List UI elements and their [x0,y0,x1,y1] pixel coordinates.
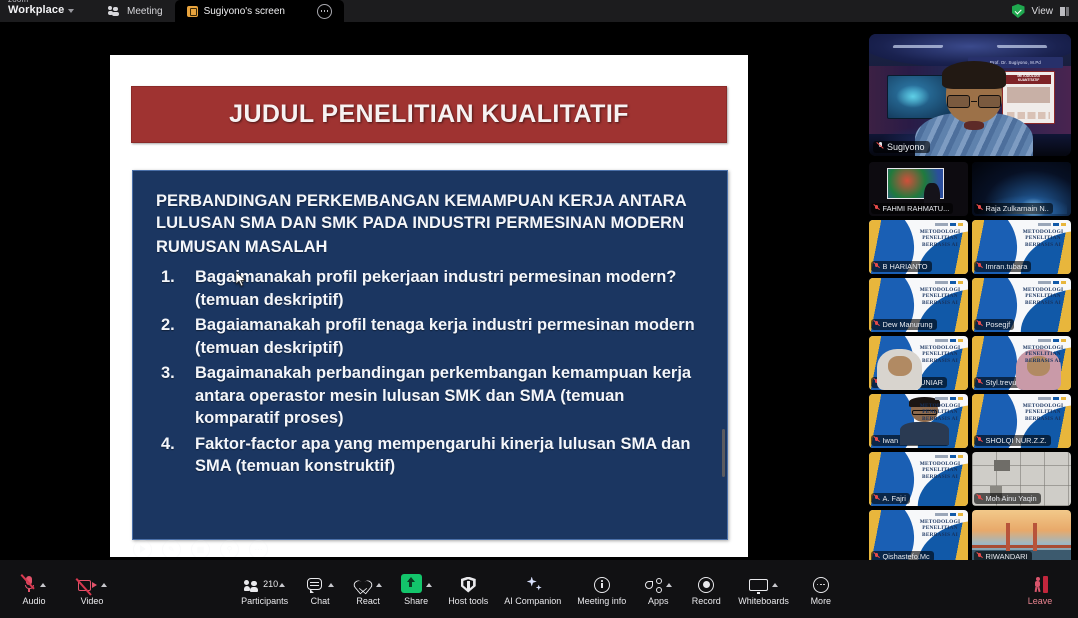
mic-muted-icon [977,379,983,387]
participant-name: Moh Ainu Yaqin [986,493,1037,504]
chevron-down-icon[interactable] [68,9,74,13]
participant-name: B HARIANTO [883,261,928,272]
layout-icon[interactable] [1060,7,1070,16]
whiteboards-button[interactable]: Whiteboards [730,573,797,606]
record-button[interactable]: Record [682,573,730,606]
presentation-controls[interactable]: ✎ ▦ ⚲ ⋯ [133,536,413,557]
leave-button[interactable]: Leave [1016,573,1064,606]
slide-question-list: 1. Bagaimanakah profil pekerjaan industr… [156,266,707,478]
card-text: METODOLOGIPENELITIANBERBASIS AI [918,461,962,480]
participants-label: Participants [241,596,288,606]
participant-row: METODOLOGIPENELITIANBERBASIS AI SRI ARTI… [869,336,1071,390]
card-header-bars [929,222,963,226]
slide-title-text: JUDUL PENELITIAN KUALITATIF [229,100,629,129]
participant-row: METODOLOGIPENELITIANBERBASIS AI Qishaste… [869,510,1071,564]
workplace-label: Workplace [8,4,64,17]
mic-muted-icon [874,495,880,503]
card-text: METODOLOGIPENELITIANBERBASIS AI [918,287,962,306]
tab-shared-screen-label: Sugiyono's screen [204,6,285,17]
slide-heading: PERBANDINGAN PERKEMBANGAN KEMAMPUAN KERJ… [156,190,707,234]
card-text: METODOLOGIPENELITIANBERBASIS AI [1021,287,1065,306]
chat-button[interactable]: Chat [296,573,344,606]
participant-tile[interactable]: METODOLOGIPENELITIANBERBASIS AI Imran.tu… [972,220,1071,274]
list-item: 3. Bagaimanakah perbandingan perkembanga… [156,362,707,430]
apps-label: Apps [648,596,669,606]
card-text: METODOLOGIPENELITIANBERBASIS AI [918,345,962,364]
list-item-number: 4. [161,433,175,456]
list-item-text: Bagaimanakah perbandingan perkembangan k… [195,364,691,427]
speaker-name-badge: Sugiyono [873,141,930,154]
participant-tile[interactable]: FAHMI RAHMATU... [869,162,968,216]
slide-title-banner: JUDUL PENELITIAN KUALITATIF [131,86,727,143]
participants-button[interactable]: 210 Participants [233,573,296,606]
participant-tile[interactable]: RIWANDARI [972,510,1071,564]
participant-row: METODOLOGIPENELITIANBERBASIS AI A. Fajri… [869,452,1071,506]
participant-row: METODOLOGIPENELITIANBERBASIS AI Dew Manu… [869,278,1071,332]
participant-name: SHOLQI NUR.Z.Z. [986,435,1047,446]
card-header-bars [1032,396,1066,400]
slides-icon[interactable]: ▦ [191,540,210,558]
list-item-number: 3. [161,362,175,385]
chat-bubble-icon [307,578,324,593]
meeting-info-label: Meeting info [577,596,626,606]
apps-button[interactable]: Apps [634,573,682,606]
participant-name-badge: B HARIANTO [871,261,932,272]
participant-name-badge: Raja Zulkarnain N.. [974,203,1053,214]
participant-grid: FAHMI RAHMATU... Raja Zulkarnain N.. [869,162,1071,568]
chevron-up-icon[interactable] [426,583,432,587]
list-item-number: 2. [161,314,175,337]
react-button[interactable]: React [344,573,392,606]
mic-muted-icon [977,321,983,329]
mic-muted-icon [874,321,880,329]
people-icon: 210 [244,580,261,593]
participant-tile[interactable]: METODOLOGIPENELITIANBERBASIS AI Qishaste… [869,510,968,564]
participant-figure [877,349,923,390]
chevron-up-icon[interactable] [666,583,672,587]
window-titlebar: zoom Workplace Meeting Sugiyono's screen [0,0,1078,22]
whiteboards-label: Whiteboards [738,596,789,606]
active-speaker-tile[interactable]: Prof. Dr. Sugiyono, M.Pd METODOLOGI KUAN… [869,34,1071,156]
card-text: METODOLOGIPENELITIANBERBASIS AI [918,519,962,538]
zoom-workplace-brand[interactable]: zoom Workplace [0,0,92,22]
participant-tile[interactable]: METODOLOGIPENELITIANBERBASIS AI Posegjf [972,278,1071,332]
participant-tile[interactable]: METODOLOGIPENELITIANBERBASIS AI Dew Manu… [869,278,968,332]
mic-muted-icon [877,142,884,151]
record-label: Record [692,596,721,606]
screen-share-icon [187,6,198,17]
card-header-bars [1032,338,1066,342]
play-icon[interactable] [133,540,152,558]
people-icon [108,6,121,16]
host-tools-label: Host tools [448,596,488,606]
sparkle-icon [524,576,542,593]
participant-tile[interactable]: METODOLOGIPENELITIANBERBASIS AI Styl.tre… [972,336,1071,390]
more-button[interactable]: More [797,573,845,606]
mic-muted-icon [874,205,880,213]
card-text: METODOLOGIPENELITIANBERBASIS AI [1021,345,1065,364]
participant-name-badge: A. Fajri [871,493,910,504]
mic-muted-icon [874,263,880,271]
participant-name: FAHMI RAHMATU... [883,203,950,214]
shield-icon [461,577,476,593]
card-header-bars [929,280,963,284]
participant-filmstrip[interactable]: Prof. Dr. Sugiyono, M.Pd METODOLOGI KUAN… [862,22,1078,560]
participant-tile[interactable]: Moh Ainu Yaqin [972,452,1071,506]
participant-name: Dew Manurung [883,319,933,330]
record-icon [698,577,714,593]
info-icon [594,577,610,593]
share-label: Share [404,596,428,606]
pen-icon[interactable]: ✎ [162,540,181,558]
speaker-name: Sugiyono [887,142,925,152]
participant-row: FAHMI RAHMATU... Raja Zulkarnain N.. [869,162,1071,216]
zoom-meeting-window: zoom Workplace Meeting Sugiyono's screen [0,0,1078,618]
participant-name-badge: Posegjf [974,319,1014,330]
participant-name-badge: Moh Ainu Yaqin [974,493,1041,504]
host-tools-button[interactable]: Host tools [440,573,496,606]
participant-name: Posegjf [986,319,1011,330]
share-button[interactable]: Share [392,573,440,606]
participant-name-badge: Dew Manurung [871,319,937,330]
leave-meeting-icon [1033,576,1048,593]
card-header-bars [929,338,963,342]
participants-count: 210 [263,579,278,589]
apps-icon [645,578,662,593]
card-header-bars [929,396,963,400]
card-text: METODOLOGIPENELITIANBERBASIS AI [918,229,962,248]
meeting-toolbar: Audio Video 210 [0,560,1078,618]
zoom-icon[interactable]: ⚲ [220,540,239,558]
ellipsis-circle-icon [813,577,829,593]
participant-tile[interactable]: METODOLOGIPENELITIANBERBASIS AI SRI ARTI… [869,336,968,390]
speaker-figure [924,58,1025,156]
heart-icon [355,579,372,593]
more-label: More [811,596,832,606]
ai-companion-label: AI Companion [504,596,561,606]
list-item: 2. Bagaiamanakah profil tenaga kerja ind… [156,314,707,359]
card-header-bars [1032,280,1066,284]
tab-meeting[interactable]: Meeting [96,0,175,22]
card-text: METODOLOGIPENELITIANBERBASIS AI [1021,403,1065,422]
participant-name-badge: FAHMI RAHMATU... [871,203,953,214]
more-icon[interactable]: ⋯ [249,540,268,558]
meeting-info-button[interactable]: Meeting info [569,573,634,606]
participant-row: METODOLOGIPENELITIANBERBASIS AI B HARIAN… [869,220,1071,274]
participant-name-badge: SHOLQI NUR.Z.Z. [974,435,1051,446]
whiteboard-icon [749,579,768,593]
participant-tile[interactable]: METODOLOGIPENELITIANBERBASIS AI A. Fajri [869,452,968,506]
card-header-bars [1032,222,1066,226]
tab-shared-screen[interactable]: Sugiyono's screen [175,0,344,22]
slide-scrollbar[interactable] [722,429,725,477]
card-text: METODOLOGIPENELITIANBERBASIS AI [1021,229,1065,248]
list-item-number: 1. [161,266,175,289]
presentation-slide: JUDUL PENELITIAN KUALITATIF PERBANDINGAN… [110,55,748,557]
ellipsis-icon[interactable] [317,4,332,19]
leave-label: Leave [1028,596,1053,606]
chevron-up-icon[interactable] [328,583,334,587]
mic-muted-icon [874,437,880,445]
share-screen-icon [401,574,422,593]
participant-name: A. Fajri [883,493,906,504]
participant-name: Imran.tubara [986,261,1028,272]
mic-muted-icon [977,437,983,445]
participant-tile[interactable]: METODOLOGIPENELITIANBERBASIS AI B HARIAN… [869,220,968,274]
participant-name: Raja Zulkarnain N.. [986,203,1049,214]
participant-tile[interactable]: METODOLOGIPENELITIANBERBASIS AI SHOLQI N… [972,394,1071,448]
mic-muted-icon [977,205,983,213]
shared-screen-stage: JUDUL PENELITIAN KUALITATIF PERBANDINGAN… [0,22,860,560]
list-item: 4. Faktor-factor apa yang mempengaruhi k… [156,433,707,478]
tab-meeting-label: Meeting [127,6,163,17]
mouse-cursor [236,272,246,287]
card-header-bars [929,512,963,516]
participant-name-badge: Imran.tubara [974,261,1031,272]
mic-muted-icon [977,495,983,503]
chat-label: Chat [311,596,330,606]
list-item-text: Faktor-factor apa yang mempengaruhi kine… [195,435,690,476]
list-item-text: Bagaiamanakah profil tenaga kerja indust… [195,316,695,357]
view-button-label[interactable]: View [1032,6,1054,17]
mic-muted-icon [977,263,983,271]
chevron-up-icon[interactable] [279,583,285,587]
chevron-up-icon[interactable] [376,583,382,587]
slide-body-panel: PERBANDINGAN PERKEMBANGAN KEMAMPUAN KERJ… [132,170,728,540]
participant-row: METODOLOGIPENELITIANBERBASIS AI Iwan Muh… [869,394,1071,448]
slide-subheading: RUMUSAN MASALAH [156,235,707,259]
ai-companion-button[interactable]: AI Companion [496,573,569,606]
participant-tile[interactable]: Raja Zulkarnain N.. [972,162,1071,216]
card-header-bars [929,454,963,458]
list-item-text: Bagaimanakah profil pekerjaan industri p… [195,268,676,309]
participant-tile[interactable]: METODOLOGIPENELITIANBERBASIS AI Iwan Muh… [869,394,968,448]
react-label: React [356,596,380,606]
chevron-up-icon[interactable] [772,583,778,587]
card-text: METODOLOGIPENELITIANBERBASIS AI [918,403,962,422]
shield-check-icon[interactable] [1012,4,1025,18]
